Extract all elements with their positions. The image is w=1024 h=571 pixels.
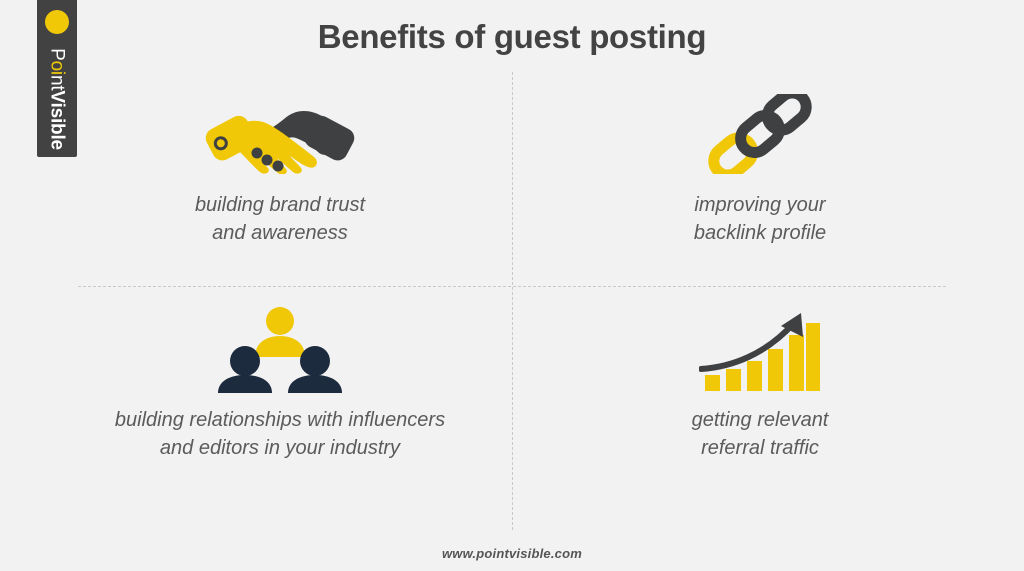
handshake-icon bbox=[204, 94, 356, 174]
caption-line-2: and awareness bbox=[195, 220, 365, 248]
benefit-caption-brand-trust: building brand trust and awareness bbox=[195, 192, 365, 247]
caption-line-2: referral traffic bbox=[692, 435, 829, 463]
benefit-card-brand-trust: building brand trust and awareness bbox=[60, 90, 500, 247]
caption-line-2: backlink profile bbox=[694, 220, 826, 248]
chain-link-icon-slot bbox=[700, 90, 820, 178]
benefit-card-relationships: building relationships with influencers … bbox=[45, 305, 515, 462]
logo-wordmark-nt: nt bbox=[47, 75, 68, 90]
caption-line-1: getting relevant bbox=[692, 409, 829, 431]
people-group-icon-slot bbox=[215, 305, 345, 393]
handshake-icon-slot bbox=[204, 90, 356, 178]
infographic-canvas: PointVisible Benefits of guest posting bbox=[0, 0, 1024, 571]
chain-link-icon bbox=[700, 94, 820, 174]
benefit-caption-relationships: building relationships with influencers … bbox=[115, 407, 445, 462]
benefit-card-referral-traffic: getting relevant referral traffic bbox=[560, 305, 960, 462]
benefit-card-backlink-profile: improving your backlink profile bbox=[560, 90, 960, 247]
benefit-caption-referral-traffic: getting relevant referral traffic bbox=[692, 407, 829, 462]
caption-line-1: building relationships with influencers bbox=[115, 409, 445, 431]
logo-wordmark-oi: oi bbox=[47, 61, 68, 75]
growth-chart-icon-slot bbox=[699, 305, 821, 393]
benefit-caption-backlink-profile: improving your backlink profile bbox=[694, 192, 826, 247]
caption-line-1: improving your bbox=[694, 194, 825, 216]
caption-line-2: and editors in your industry bbox=[115, 435, 445, 463]
growth-chart-icon bbox=[699, 307, 821, 391]
people-group-icon bbox=[215, 305, 345, 393]
caption-line-1: building brand trust bbox=[195, 194, 365, 216]
divider-horizontal bbox=[78, 286, 946, 287]
footer-website-url[interactable]: www.pointvisible.com bbox=[0, 546, 1024, 561]
page-title: Benefits of guest posting bbox=[0, 18, 1024, 56]
